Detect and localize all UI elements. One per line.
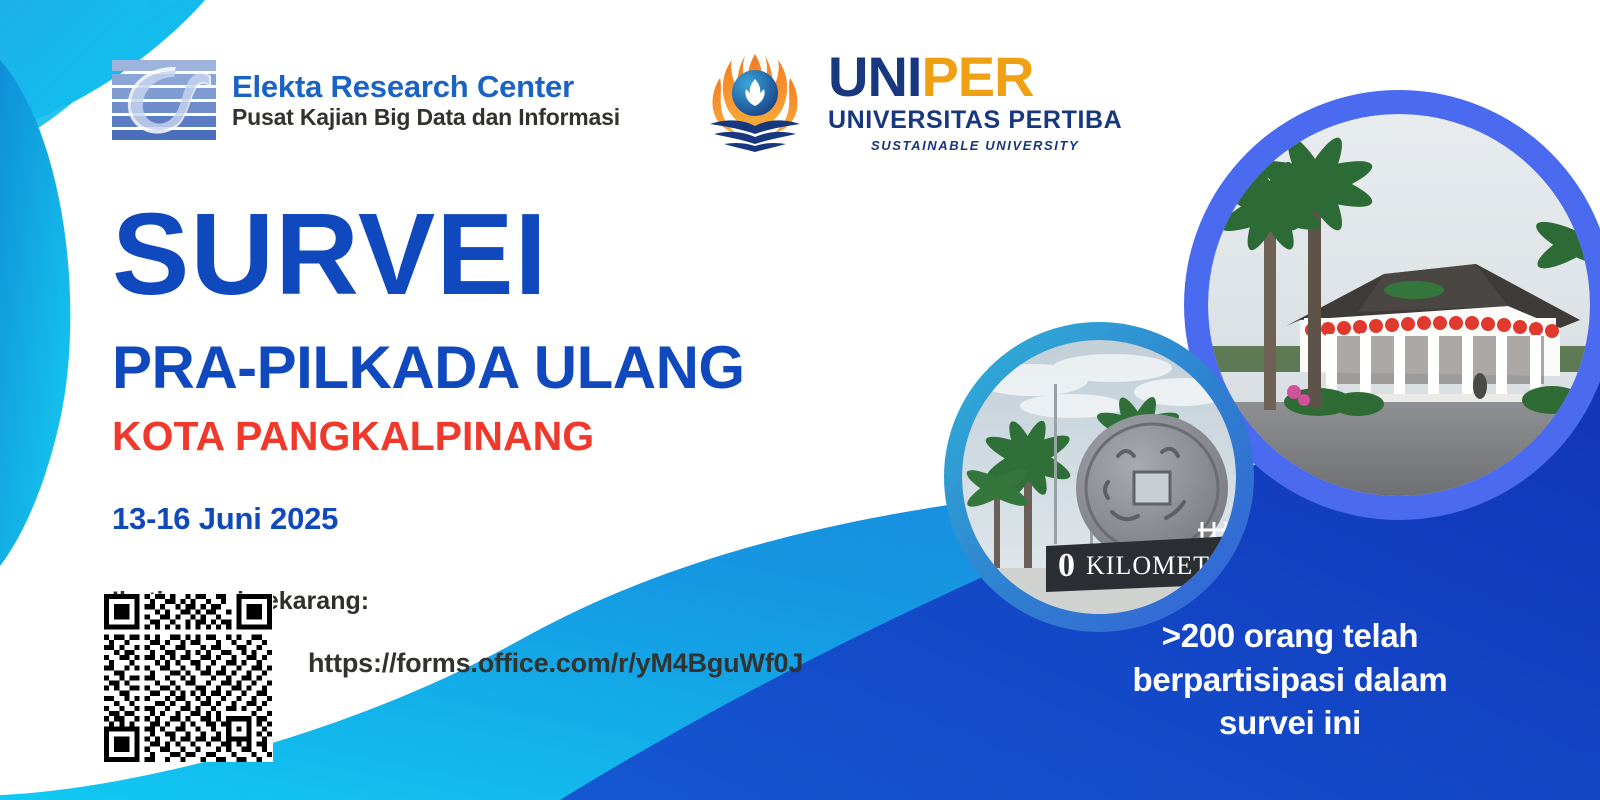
- photo-colonial-building-circle-icon: [1208, 114, 1590, 496]
- wave-left-crescent: [0, 60, 70, 566]
- survey-promo-banner: Elekta Research Center Pusat Kajian Big …: [0, 0, 1600, 800]
- qr-code[interactable]: [103, 594, 273, 762]
- uniper-logo: UNIPER UNIVERSITAS PERTIBA SUSTAINABLE U…: [696, 44, 1122, 156]
- elekta-subtitle: Pusat Kajian Big Data dan Informasi: [232, 105, 620, 129]
- survey-date: 13-16 Juni 2025: [112, 501, 745, 537]
- participation-line-1: >200 orang telah: [1060, 614, 1520, 658]
- participation-note: >200 orang telah berpartisipasi dalam su…: [1060, 614, 1520, 745]
- participation-line-3: survei ini: [1060, 701, 1520, 745]
- participation-line-2: berpartisipasi dalam: [1060, 658, 1520, 702]
- survey-url[interactable]: https://forms.office.com/r/yM4BguWf0J: [308, 648, 803, 679]
- elekta-title: Elekta Research Center: [232, 71, 620, 104]
- svg-text:0: 0: [1058, 547, 1075, 584]
- uniper-wordmark-uni: UNI: [828, 45, 921, 108]
- qr-code-icon: [103, 594, 273, 762]
- headline-block: SURVEI PRA-PILKADA ULANG KOTA PANGKALPIN…: [112, 196, 745, 616]
- uniper-wordmark: UNIPER: [828, 49, 1122, 105]
- uniper-tagline: SUSTAINABLE UNIVERSITY: [828, 139, 1122, 152]
- elekta-alpha-bars-logo-icon: [112, 58, 216, 142]
- uniper-wordmark-per: PER: [921, 45, 1033, 108]
- uniper-flame-lotus-book-emblem-icon: [696, 44, 814, 156]
- uniper-full-name: UNIVERSITAS PERTIBA: [828, 108, 1122, 133]
- page-city: KOTA PANGKALPINANG: [112, 416, 745, 457]
- elekta-research-center-logo: Elekta Research Center Pusat Kajian Big …: [112, 58, 620, 142]
- page-title: SURVEI: [112, 196, 745, 312]
- photo-zero-kilometer-monument-circle-icon: 0 KILOMETE: [962, 340, 1236, 614]
- page-subtitle: PRA-PILKADA ULANG: [112, 338, 745, 398]
